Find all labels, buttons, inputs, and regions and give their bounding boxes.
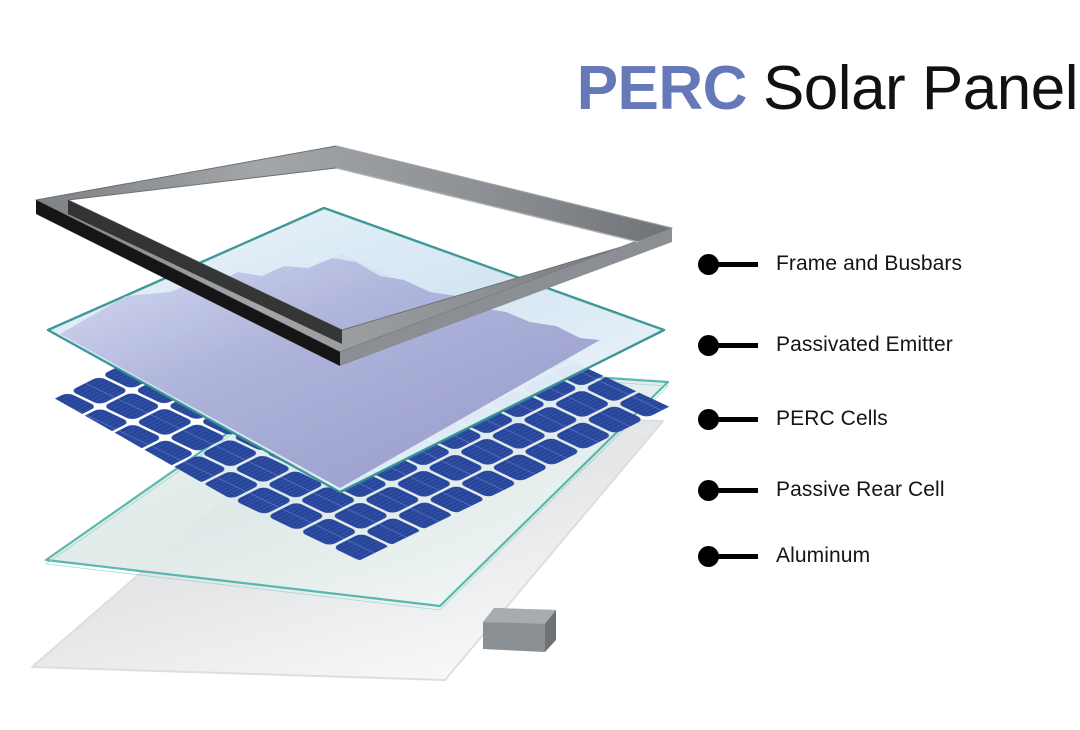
legend-line-icon xyxy=(718,343,758,348)
legend-label: Frame and Busbars xyxy=(776,252,962,276)
title-accent-text: PERC xyxy=(577,58,747,120)
legend-dot-icon xyxy=(698,480,719,501)
legend-label: Passivated Emitter xyxy=(776,333,953,357)
diagram-canvas: PERC Solar Panel Frame and Busbars Passi… xyxy=(0,0,1080,730)
legend-dot-icon xyxy=(698,254,719,275)
junction-box xyxy=(483,608,556,652)
legend-dot-icon xyxy=(698,409,719,430)
page-title: PERC Solar Panel xyxy=(577,58,1078,120)
legend-label: Passive Rear Cell xyxy=(776,478,945,502)
legend-line-icon xyxy=(718,262,758,267)
legend-line-icon xyxy=(718,417,758,422)
legend-label: PERC Cells xyxy=(776,407,888,431)
legend-item-passivated-emitter[interactable]: Passivated Emitter xyxy=(698,331,953,359)
legend-item-frame-and-busbars[interactable]: Frame and Busbars xyxy=(698,250,962,278)
legend-dot-icon xyxy=(698,335,719,356)
legend-line-icon xyxy=(718,554,758,559)
legend-item-perc-cells[interactable]: PERC Cells xyxy=(698,405,888,433)
legend-item-passive-rear-cell[interactable]: Passive Rear Cell xyxy=(698,476,945,504)
title-main-text: Solar Panel xyxy=(763,58,1078,120)
legend-line-icon xyxy=(718,488,758,493)
legend-label: Aluminum xyxy=(776,544,870,568)
legend-dot-icon xyxy=(698,546,719,567)
legend-item-aluminum[interactable]: Aluminum xyxy=(698,542,870,570)
